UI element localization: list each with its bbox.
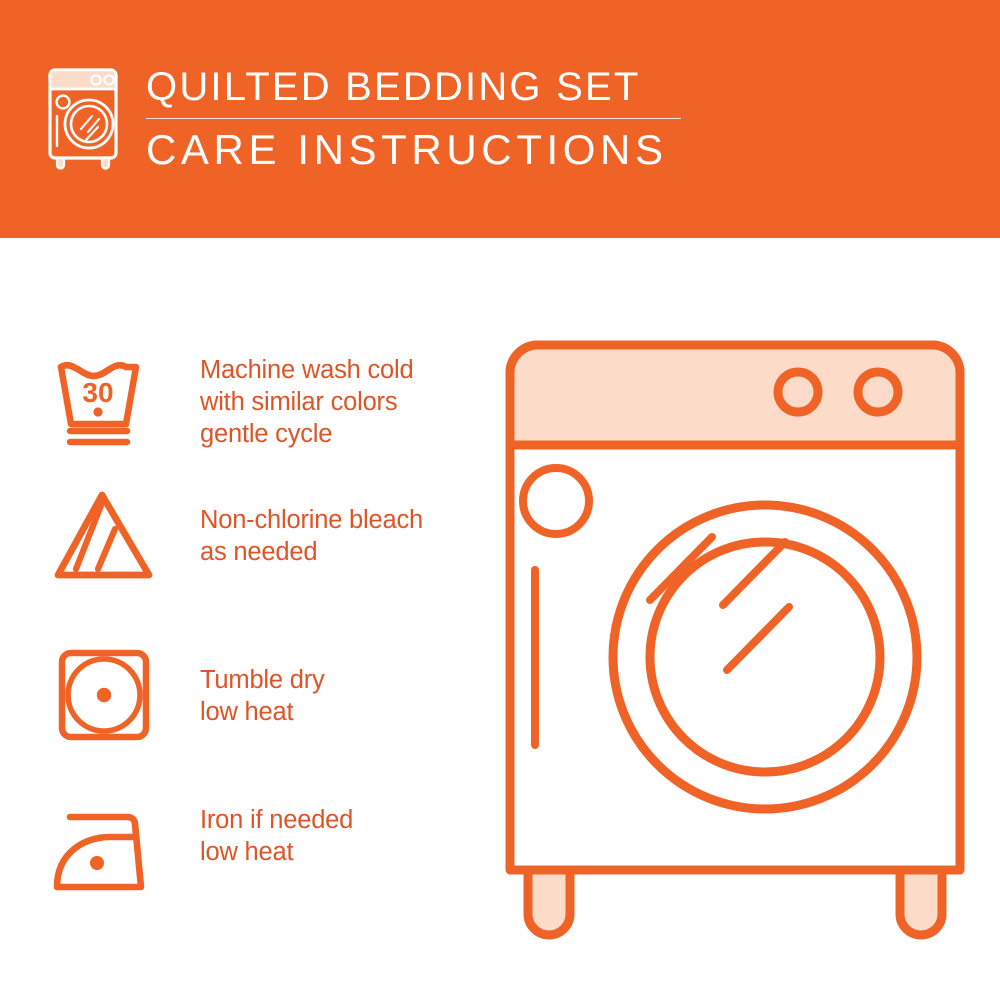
leg-left — [528, 870, 570, 935]
page-title-care: CARE INSTRUCTIONS — [146, 126, 681, 174]
care-instruction-iron-text: Iron if needed low heat — [200, 804, 353, 868]
care-instruction-tumble-dry-text: Tumble dry low heat — [200, 664, 325, 728]
care-text-line: low heat — [200, 696, 325, 728]
control-panel — [510, 345, 960, 445]
header-content: QUILTED BEDDING SET CARE INSTRUCTIONS — [42, 62, 681, 174]
iron-low-heat-icon — [52, 791, 164, 903]
care-instruction-list: 30 Machine wash cold with similar colors… — [0, 238, 500, 1000]
header-band: QUILTED BEDDING SET CARE INSTRUCTIONS — [0, 0, 1000, 238]
care-text-line: Machine wash cold — [200, 354, 413, 386]
care-text-line: with similar colors — [200, 386, 413, 418]
care-text-line: Tumble dry — [200, 664, 325, 696]
care-text-line: low heat — [200, 836, 353, 868]
tumble-dry-square-icon — [52, 641, 164, 753]
front-load-washing-machine-illustration — [490, 325, 980, 940]
title-divider — [146, 118, 681, 119]
care-text-line: as needed — [200, 536, 423, 568]
machine-wash-tub-icon: 30 — [52, 346, 164, 458]
wash-temperature-label: 30 — [82, 377, 113, 408]
care-text-line: gentle cycle — [200, 418, 413, 450]
care-instruction-wash-text: Machine wash cold with similar colors ge… — [200, 354, 413, 450]
non-chlorine-bleach-triangle-icon — [52, 481, 164, 593]
header-titles: QUILTED BEDDING SET CARE INSTRUCTIONS — [146, 62, 681, 174]
page-title-product: QUILTED BEDDING SET — [146, 64, 681, 110]
care-text-line: Iron if needed — [200, 804, 353, 836]
care-text-line: Non-chlorine bleach — [200, 504, 423, 536]
leg-right — [900, 870, 942, 935]
care-instructions-infographic: QUILTED BEDDING SET CARE INSTRUCTIONS 30 — [0, 0, 1000, 1000]
washing-machine-icon — [42, 66, 128, 170]
care-instruction-bleach-text: Non-chlorine bleach as needed — [200, 504, 423, 568]
